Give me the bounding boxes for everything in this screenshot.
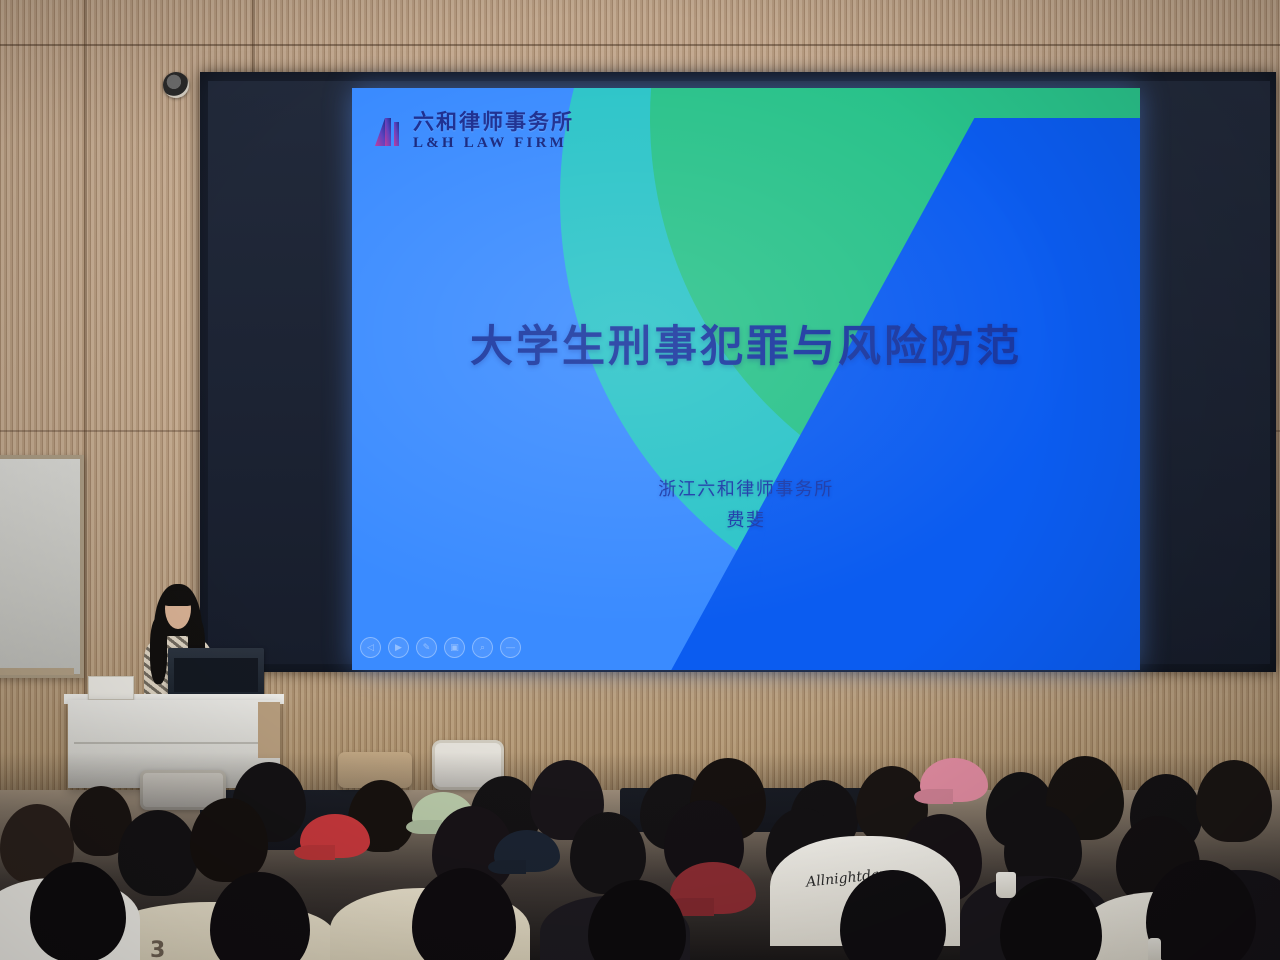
photo-vignette: [0, 0, 1280, 960]
lecture-hall-photo: 六和律师事务所 L&H LAW FIRM 大学生刑事犯罪与风险防范 浙江六和律师…: [0, 0, 1280, 960]
